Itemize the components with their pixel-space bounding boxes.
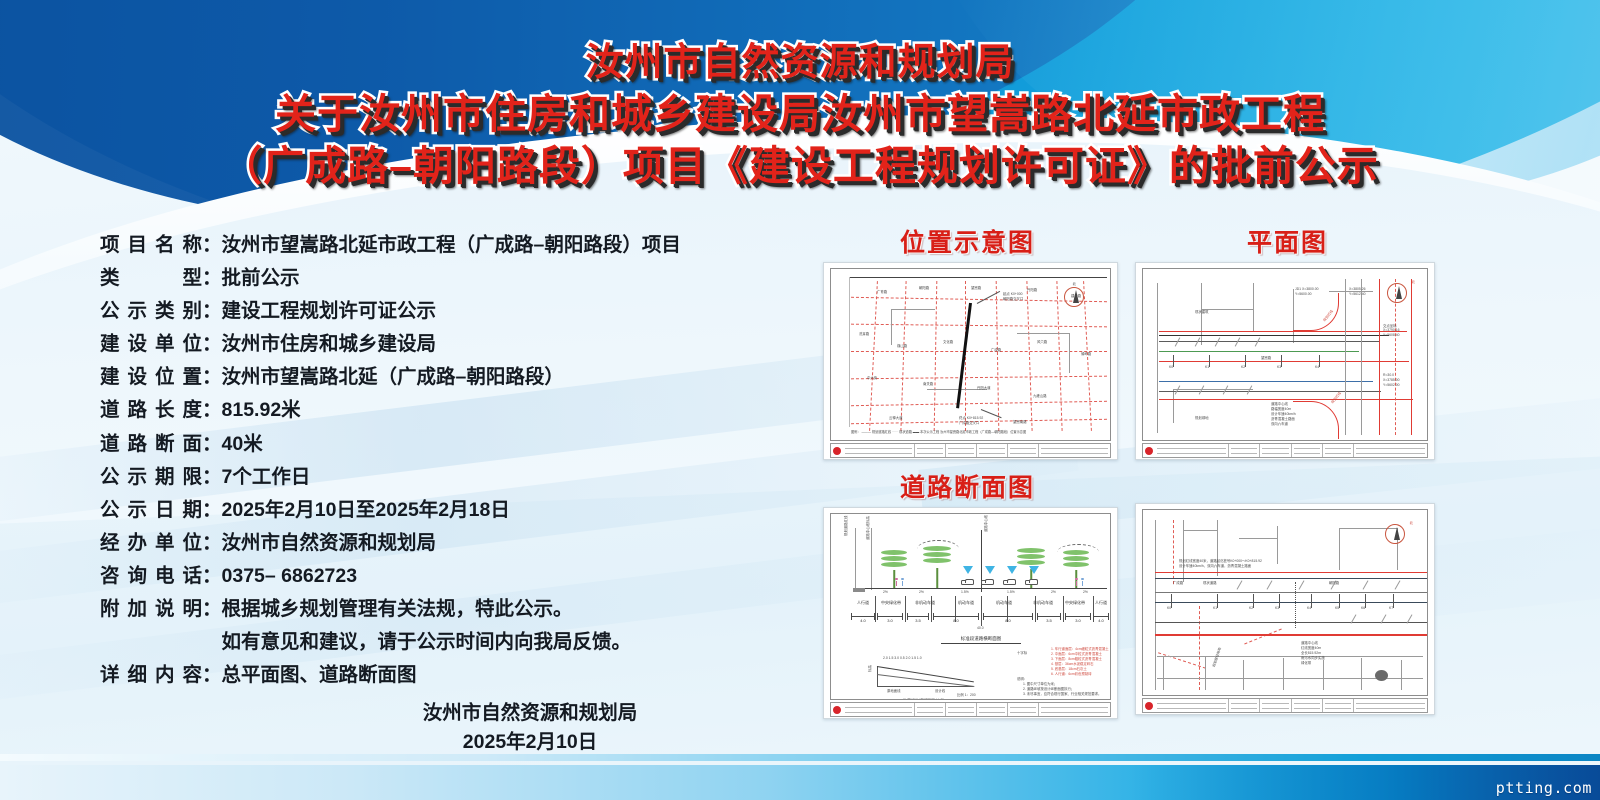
section-zone-label: 机动车道	[949, 600, 983, 606]
panel-location-map[interactable]: 位置示意图	[815, 228, 1120, 460]
section-zone-width: 4.0	[1089, 618, 1111, 623]
watermark-text: ptting.com	[1496, 779, 1592, 797]
panel-caption-site-plan: 平面图	[1135, 228, 1440, 262]
vehicle-icon	[961, 580, 974, 585]
section-zone-width: 8.0	[933, 618, 979, 623]
drawing-titleblock-road-plan	[1142, 698, 1428, 713]
info-value: 总平面图、道路断面图	[222, 666, 760, 686]
section-zone-width: 3.5	[907, 618, 929, 623]
signature-block: 汝州市自然资源和规划局 2025年2月10日	[100, 699, 760, 756]
info-colon: ：	[202, 269, 222, 289]
info-row-type: 类型 ： 批前公示	[100, 269, 760, 289]
title-line-2: 关于汝州市住房和城乡建设局汝州市望嵩路北延市政工程	[0, 92, 1600, 138]
info-value: 批前公示	[222, 269, 760, 289]
direction-arrow-icon	[1029, 566, 1039, 574]
drawing-frame-road-plan[interactable]: K0 K1 K2 K3 K4 K5 K6 K7	[1135, 503, 1435, 715]
panel-site-plan[interactable]: 平面图	[1135, 228, 1440, 460]
panel-caption-road-section: 道路断面图	[815, 473, 1120, 507]
info-label: 类型	[100, 269, 202, 289]
info-colon: ：	[202, 534, 222, 554]
publicity-poster: 汝州市自然资源和规划局 关于汝州市住房和城乡建设局汝州市望嵩路北延市政工程 （广…	[0, 0, 1600, 800]
info-colon: ：	[202, 401, 222, 421]
info-row-detail-content: 详细内容 ： 总平面图、道路断面图	[100, 666, 760, 686]
design-institute-logo-icon	[833, 706, 841, 714]
info-value: 2025年2月10日至2025年2月18日	[222, 501, 760, 521]
info-value: 汝州市自然资源和规划局	[222, 534, 760, 554]
direction-arrow-icon	[985, 566, 995, 574]
panel-road-plan[interactable]: K0 K1 K2 K3 K4 K5 K6 K7	[1135, 503, 1440, 715]
vehicle-icon	[981, 580, 994, 585]
design-institute-logo-icon	[1145, 702, 1153, 710]
north-arrow-icon	[1064, 287, 1084, 307]
info-row-additional-note: 附加说明 ： 根据城乡规划管理有关法规，特此公示。	[100, 600, 760, 620]
section-zone-label: 人行道	[849, 600, 877, 606]
drawing-titleblock-location-map	[830, 443, 1111, 458]
section-zone-width: 3.0	[1065, 618, 1091, 623]
direction-arrow-icon	[963, 566, 973, 574]
design-institute-logo-icon	[1145, 447, 1153, 455]
section-zone-width: 4.0	[851, 618, 875, 623]
direction-arrow-icon	[1007, 566, 1017, 574]
section-zone-width: 8.0	[983, 618, 1033, 623]
info-colon: ：	[202, 435, 222, 455]
info-label: 咨询电话	[100, 567, 202, 587]
scale-note: 比例 1：200	[957, 692, 976, 697]
drawing-frame-site-plan[interactable]: K0 K1 K2 K3 K4 望嵩路	[1135, 262, 1435, 460]
info-colon: ：	[202, 666, 222, 686]
pond-symbol-icon	[1375, 670, 1388, 681]
info-label: 附加说明	[100, 600, 202, 620]
info-colon: ：	[202, 567, 222, 587]
drawing-titleblock-road-section	[830, 702, 1111, 717]
info-row-publicity-category: 公示类别 ： 建设工程规划许可证公示	[100, 302, 760, 322]
cad-canvas-road-plan: K0 K1 K2 K3 K4 K5 K6 K7	[1142, 509, 1428, 696]
info-colon: ：	[202, 501, 222, 521]
info-label: 道路长度	[100, 401, 202, 421]
signature-organization: 汝州市自然资源和规划局	[300, 699, 760, 727]
section-zone-width: 3.0	[877, 618, 903, 623]
info-row-publicity-period: 公示期限 ： 7个工作日	[100, 468, 760, 488]
title-line-3: （广成路–朝阳路段）项目《建设工程规划许可证》的批前公示	[0, 144, 1600, 190]
vehicle-icon	[1025, 580, 1038, 585]
info-label: 公示类别	[100, 302, 202, 322]
info-row-construction-unit: 建设单位 ： 汝州市住房和城乡建设局	[100, 335, 760, 355]
info-row-project-name: 项目名称 ： 汝州市望嵩路北延市政工程（广成路–朝阳路段）项目	[100, 236, 760, 256]
info-row-additional-note-continued: 附加说明 ： 如有意见和建议，请于公示时间内向我局反馈。	[100, 633, 760, 653]
design-institute-logo-icon	[833, 447, 841, 455]
info-label: 详细内容	[100, 666, 202, 686]
drawing-titleblock-site-plan	[1142, 443, 1428, 458]
poster-title: 汝州市自然资源和规划局 关于汝州市住房和城乡建设局汝州市望嵩路北延市政工程 （广…	[0, 42, 1600, 190]
info-value: 7个工作日	[222, 468, 760, 488]
drawing-frame-location-map[interactable]: 起点 K0+000 朝阳路交叉口 终点 K0+815.92 广成路交叉口 广育路…	[823, 262, 1118, 460]
info-label: 建设单位	[100, 335, 202, 355]
section-zone-label: 非机动车道	[907, 600, 943, 606]
info-label: 公示期限	[100, 468, 202, 488]
info-value: 0375– 6862723	[222, 567, 760, 587]
section-caption: 标准段道路横断面图	[941, 636, 1021, 644]
cad-canvas-site-plan: K0 K1 K2 K3 K4 望嵩路	[1142, 268, 1428, 441]
section-zone-width: 3.5	[1037, 618, 1061, 623]
panel-road-section[interactable]: 道路断面图 规划道路红线 道路中心线标高 道路中心线	[815, 473, 1120, 719]
info-colon: ：	[202, 368, 222, 388]
cad-canvas-road-section: 规划道路红线 道路中心线标高 道路中心线	[830, 513, 1111, 700]
info-colon: ：	[202, 335, 222, 355]
info-label: 道路断面	[100, 435, 202, 455]
project-info-list: 项目名称 ： 汝州市望嵩路北延市政工程（广成路–朝阳路段）项目 类型 ： 批前公…	[100, 236, 760, 756]
section-zone-label: 非机动车道	[1025, 600, 1061, 606]
pedestrian-icon	[901, 578, 904, 586]
panel-caption-location-map: 位置示意图	[815, 228, 1120, 262]
info-label: 建设位置	[100, 368, 202, 388]
info-value: 40米	[222, 435, 760, 455]
pedestrian-icon	[1075, 578, 1078, 586]
info-colon: ：	[202, 302, 222, 322]
info-value: 建设工程规划许可证公示	[222, 302, 760, 322]
info-row-handling-unit: 经办单位 ： 汝州市自然资源和规划局	[100, 534, 760, 554]
info-value: 如有意见和建议，请于公示时间内向我局反馈。	[222, 633, 760, 653]
info-colon: ：	[202, 600, 222, 620]
section-zone-label: 中央绿化带	[875, 600, 907, 606]
info-row-phone: 咨询电话 ： 0375– 6862723	[100, 567, 760, 587]
footer-gradient-band	[0, 765, 1600, 800]
info-value: 815.92米	[222, 401, 760, 421]
info-row-publicity-date: 公示日期 ： 2025年2月10日至2025年2月18日	[100, 501, 760, 521]
info-label: 公示日期	[100, 501, 202, 521]
drawing-frame-road-section[interactable]: 规划道路红线 道路中心线标高 道路中心线	[823, 507, 1118, 719]
section-zone-label: 机动车道	[987, 600, 1021, 606]
section-zone-label: 人行道	[1087, 600, 1111, 606]
north-arrow-icon	[1387, 283, 1407, 303]
north-arrow-icon	[1385, 524, 1405, 544]
info-value: 汝州市望嵩路北延（广成路–朝阳路段）	[222, 368, 760, 388]
info-label: 经办单位	[100, 534, 202, 554]
title-line-1: 汝州市自然资源和规划局	[0, 42, 1600, 85]
info-row-construction-location: 建设位置 ： 汝州市望嵩路北延（广成路–朝阳路段）	[100, 368, 760, 388]
signature-date: 2025年2月10日	[300, 728, 760, 756]
info-value: 根据城乡规划管理有关法规，特此公示。	[222, 600, 760, 620]
info-row-road-length: 道路长度 ： 815.92米	[100, 401, 760, 421]
info-colon: ：	[202, 236, 222, 256]
cad-canvas-location-map: 起点 K0+000 朝阳路交叉口 终点 K0+815.92 广成路交叉口 广育路…	[830, 268, 1111, 441]
info-label: 项目名称	[100, 236, 202, 256]
info-value: 汝州市望嵩路北延市政工程（广成路–朝阳路段）项目	[222, 236, 760, 256]
info-row-road-section: 道路断面 ： 40米	[100, 435, 760, 455]
pedestrian-icon	[1081, 578, 1084, 586]
info-colon: ：	[202, 468, 222, 488]
vehicle-icon	[1003, 580, 1016, 585]
info-value: 汝州市住房和城乡建设局	[222, 335, 760, 355]
pedestrian-icon	[895, 578, 898, 586]
